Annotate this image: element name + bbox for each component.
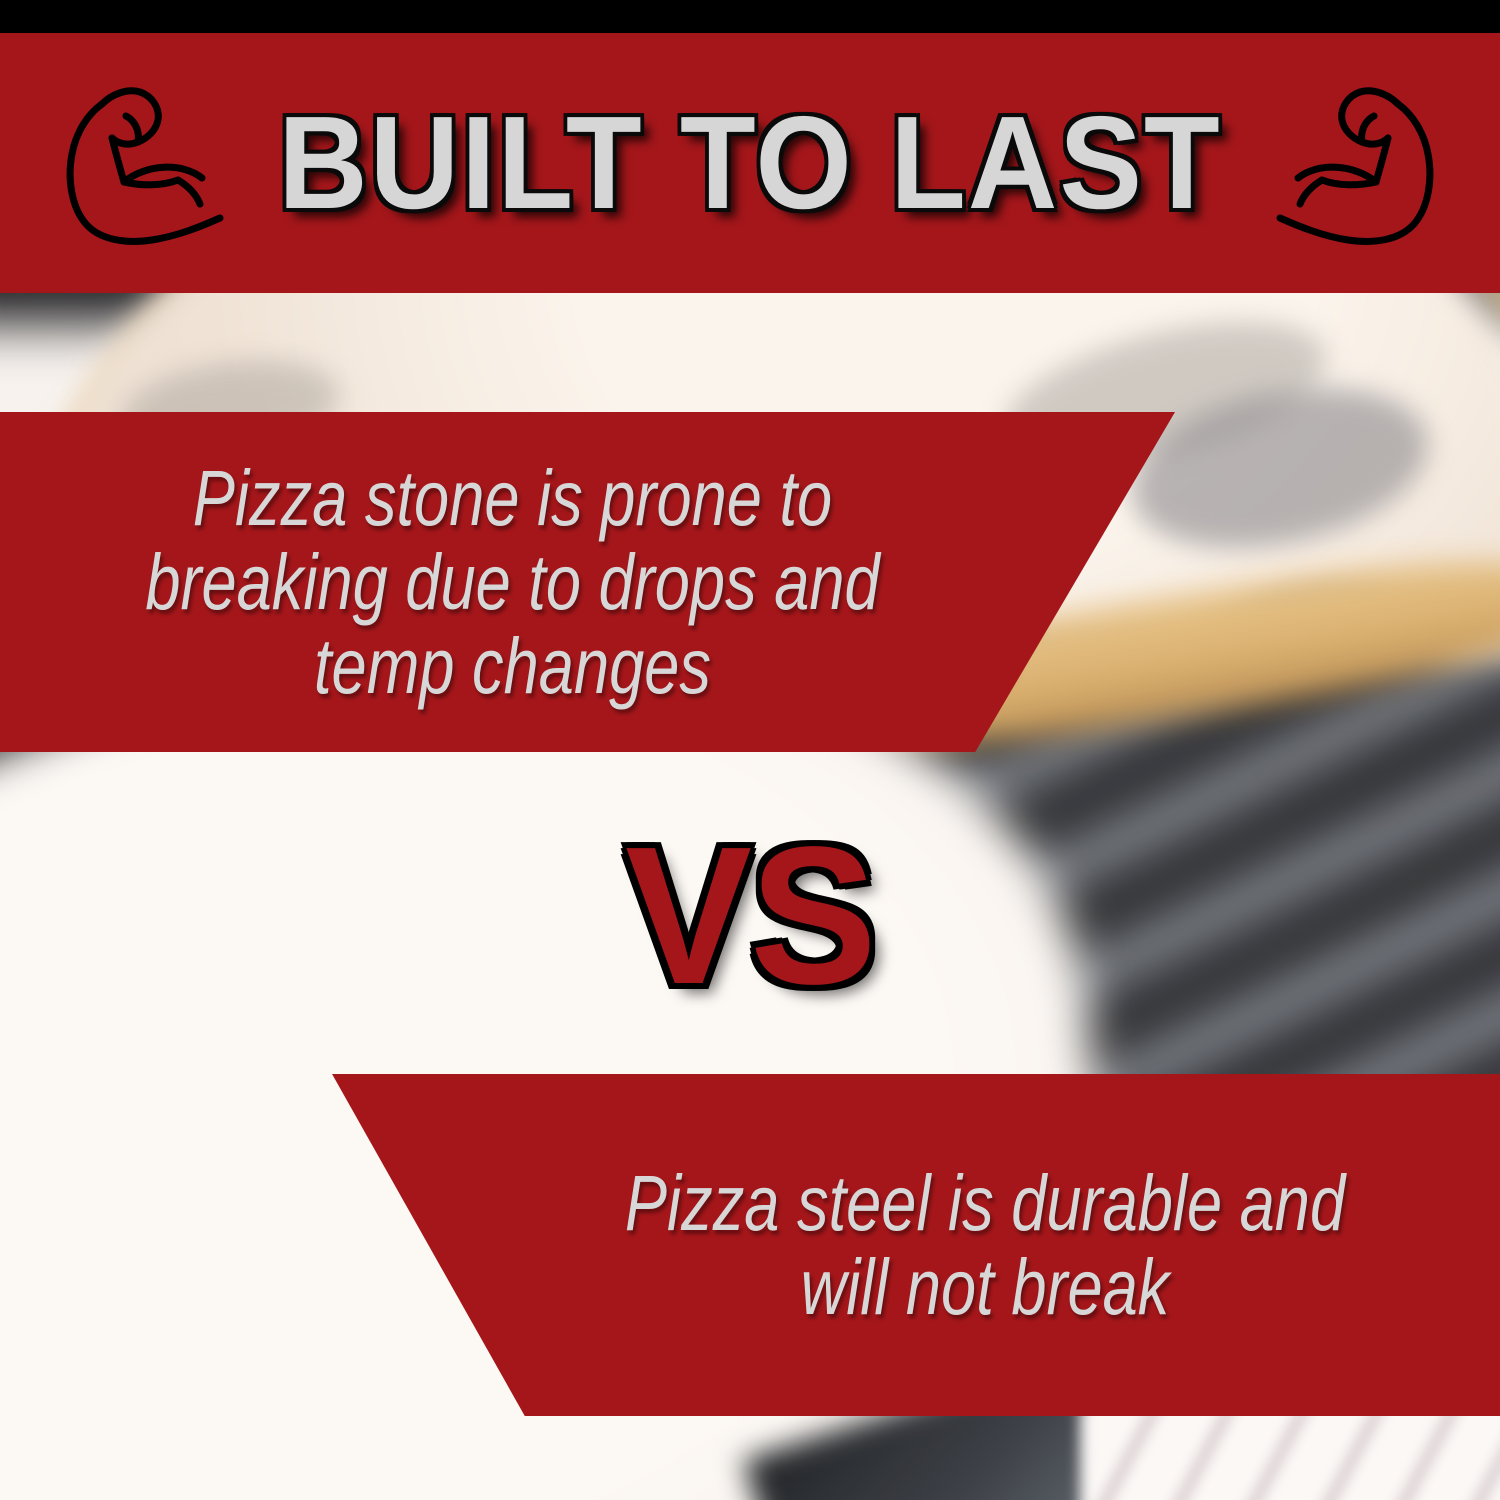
flexed-bicep-icon <box>42 68 242 258</box>
flexed-bicep-icon <box>1258 68 1458 258</box>
callout-pizza-stone: Pizza stone is prone to breaking due to … <box>0 412 1175 752</box>
page-title: BUILT TO LAST <box>273 97 1228 229</box>
callout-pizza-stone-text: Pizza stone is prone to breaking due to … <box>119 456 907 707</box>
header-banner: BUILT TO LAST <box>0 33 1500 293</box>
vs-divider-label: VS <box>23 818 1478 1014</box>
product-comparison-poster: BUILT TO LAST Pizza stone is prone to br… <box>0 0 1500 1500</box>
callout-pizza-steel: Pizza steel is durable and will not brea… <box>325 1074 1500 1416</box>
top-black-strip <box>0 0 1500 33</box>
callout-pizza-steel-text: Pizza steel is durable and will not brea… <box>597 1161 1373 1328</box>
